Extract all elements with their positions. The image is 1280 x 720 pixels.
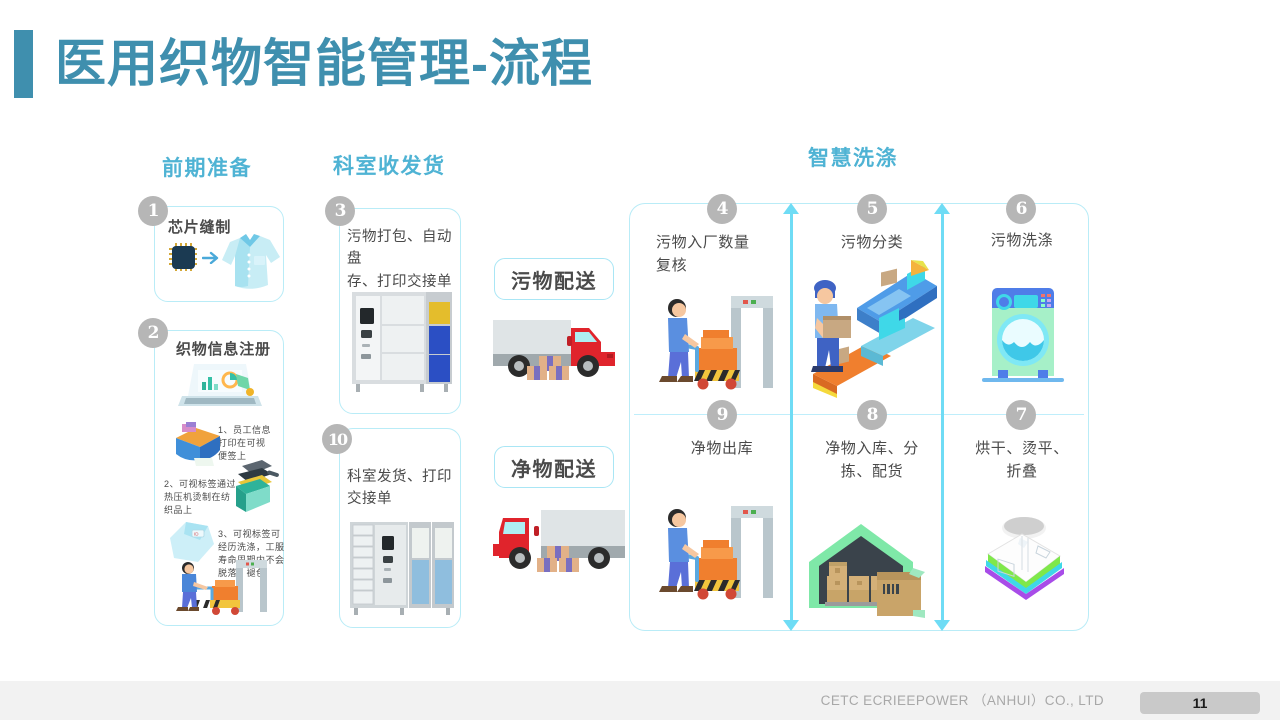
card-step-3-text: 污物打包、自动盘 存、打印交接单	[347, 226, 457, 293]
note-2-line-2: 热压机烫制在纺	[164, 491, 236, 504]
truck-dirty-icon	[489, 308, 631, 388]
step-badge-4: 4	[707, 194, 737, 224]
title-accent-bar	[14, 30, 33, 98]
section-header-preparation: 前期准备	[162, 152, 252, 182]
worker-cart-scanner-icon-4	[655, 290, 775, 395]
card-step-2-note-2: 2、可视标签通过 热压机烫制在纺 织品上	[164, 478, 236, 517]
card-step-2-title: 织物信息注册	[176, 338, 271, 359]
step-badge-2: 2	[138, 318, 168, 348]
conveyor-sorting-icon	[795, 256, 941, 398]
laptop-dashboard-icon	[176, 360, 262, 420]
wash-cell-7-line-1: 烘干、烫平、	[962, 438, 1082, 461]
worker-cart-scanner-icon-step2	[172, 556, 268, 618]
wash-cell-7-line-2: 折叠	[962, 461, 1082, 484]
wash-cell-9-title: 净物出库	[662, 438, 782, 461]
page-title: 医用织物智能管理-流程	[55, 30, 593, 98]
pill-clean-delivery[interactable]: 净物配送	[494, 446, 614, 488]
step-badge-9: 9	[707, 400, 737, 430]
wash-cell-5-line-1: 污物分类	[812, 232, 932, 255]
card-step-10-line-1: 科室发货、打印	[347, 466, 457, 488]
section-header-department: 科室收发货	[333, 150, 446, 180]
svg-text:ID: ID	[194, 532, 199, 537]
washing-machine-icon	[976, 278, 1070, 388]
truck-clean-icon	[489, 500, 631, 580]
step-badge-3: 3	[325, 196, 355, 226]
shirt-icon	[218, 228, 284, 296]
wash-cell-6-line-1: 污物洗涤	[962, 230, 1082, 253]
printer-icon	[166, 420, 224, 470]
step-badge-8: 8	[857, 400, 887, 430]
pill-dirty-delivery[interactable]: 污物配送	[494, 258, 614, 300]
heat-press-machine-icon	[228, 458, 282, 516]
warehouse-boxes-icon	[805, 510, 933, 620]
note-1-line-1: 1、员工信息	[218, 424, 271, 437]
page-number: 11	[1140, 692, 1260, 714]
wash-cell-4-line-2: 复核	[656, 255, 776, 278]
wash-cell-9-line-1: 净物出库	[662, 438, 782, 461]
note-3-line-1: 3、可视标签可	[218, 528, 285, 541]
footer-company: CETC ECRIEEPOWER （ANHUI）CO., LTD	[821, 689, 1104, 709]
note-3-line-2: 经历洗涤，工服	[218, 541, 285, 554]
wash-cell-8-line-2: 拣、配货	[812, 461, 932, 484]
card-step-3-line-1: 污物打包、自动盘	[347, 226, 457, 271]
card-step-10-text: 科室发货、打印 交接单	[347, 466, 457, 511]
chip-icon	[166, 241, 200, 275]
wash-cell-7-title: 烘干、烫平、 折叠	[962, 438, 1082, 483]
wash-cell-5-title: 污物分类	[812, 232, 932, 255]
note-1-line-2: 打印在可视	[218, 437, 271, 450]
step-badge-10: 10	[322, 424, 352, 454]
wash-cell-4-title: 污物入厂数量 复核	[656, 232, 776, 277]
worker-cart-scanner-icon-9	[655, 500, 775, 605]
smart-locker-cabinet-icon-10	[346, 518, 456, 618]
step-badge-7: 7	[1006, 400, 1036, 430]
wash-cell-8-title: 净物入库、分 拣、配货	[812, 438, 932, 483]
slide-root: 医用织物智能管理-流程 前期准备 科室收发货 智慧洗涤 1 芯片缝制	[0, 0, 1280, 720]
note-2-line-1: 2、可视标签通过	[164, 478, 236, 491]
step-badge-5: 5	[857, 194, 887, 224]
wash-cell-4-line-1: 污物入厂数量	[656, 232, 776, 255]
folded-shirts-icon	[976, 508, 1072, 612]
card-step-10-line-2: 交接单	[347, 488, 457, 510]
section-header-smart-washing: 智慧洗涤	[808, 142, 898, 172]
smart-locker-cabinet-icon-3	[346, 288, 454, 396]
step-badge-6: 6	[1006, 194, 1036, 224]
wash-cell-8-line-1: 净物入库、分	[812, 438, 932, 461]
step-badge-1: 1	[138, 196, 168, 226]
wash-cell-6-title: 污物洗涤	[962, 230, 1082, 253]
note-2-line-3: 织品上	[164, 504, 236, 517]
